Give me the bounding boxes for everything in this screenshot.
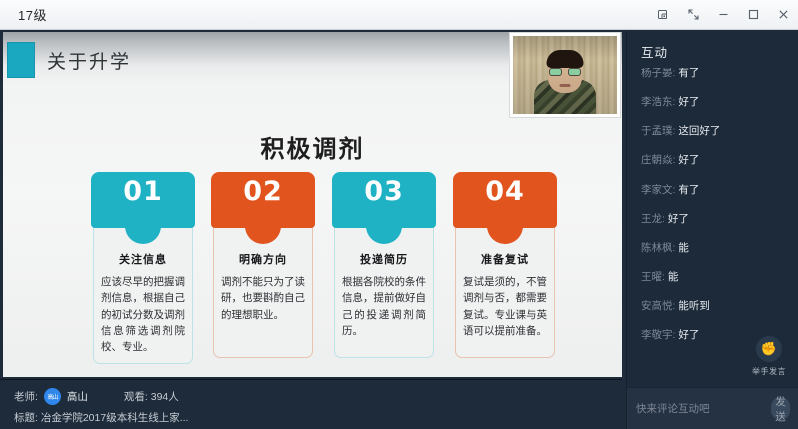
chat-user: 李浩东:	[641, 96, 675, 108]
chat-text: 这回好了	[678, 125, 720, 137]
window-content: 关于升学 积极调剂 01 关注信息 应该尽早的把握调剂信息，根据自己的初试分数及…	[0, 30, 798, 429]
window-titlebar: 17级	[0, 0, 798, 30]
raise-hand-button[interactable]: ✊ 举手发言	[752, 336, 786, 377]
restore-size-icon[interactable]	[678, 0, 708, 29]
teacher-row: 老师: 高山 高山 观看: 394人	[14, 387, 622, 406]
slide-cards: 01 关注信息 应该尽早的把握调剂信息，根据自己的初试分数及调剂信息筛选调剂院校…	[91, 172, 539, 362]
interaction-panel: 互动 杨子晏: 有了 李浩东: 好了 于孟璞: 这回好了 庄朝焱: 好了	[626, 30, 798, 429]
card-number: 03	[364, 178, 404, 205]
chat-user: 王龙:	[641, 213, 665, 225]
chat-input[interactable]	[636, 403, 771, 415]
card-heading: 关注信息	[101, 251, 185, 267]
chat-text: 好了	[678, 154, 699, 166]
chat-text: 能听到	[678, 300, 710, 312]
card-number: 01	[123, 178, 163, 205]
slide-title: 积极调剂	[3, 129, 622, 164]
card-text: 应该尽早的把握调剂信息，根据自己的初试分数及调剂信息筛选调剂院校、专业。	[101, 274, 185, 355]
chat-message: 王曜: 能	[641, 272, 787, 284]
chat-panel-header: 互动	[627, 30, 798, 61]
chat-message: 杨子晏: 有了	[641, 68, 787, 80]
teacher-camera-feed[interactable]	[510, 33, 620, 117]
card-text: 调剂不能只为了读研，也要斟酌自己的理想职业。	[221, 274, 305, 323]
card-text: 根据各院校的条件信息，提前做好自己的投递调剂简历。	[342, 274, 426, 339]
screenshot-icon[interactable]	[648, 0, 678, 29]
card-heading: 准备复试	[463, 251, 547, 267]
teacher-name: 高山	[67, 389, 88, 404]
chat-input-bar: 发送	[627, 387, 798, 429]
card-number: 02	[243, 178, 283, 205]
chat-message: 陈林枫: 能	[641, 243, 787, 255]
send-button[interactable]: 发送	[771, 397, 790, 420]
chat-user: 李家文:	[641, 184, 675, 196]
close-icon[interactable]	[768, 0, 798, 29]
chat-message: 李浩东: 好了	[641, 97, 787, 109]
card-badge: 01	[91, 172, 195, 228]
chat-user: 安高悦:	[641, 300, 675, 312]
card-badge: 03	[332, 172, 436, 228]
camera-video	[513, 36, 617, 114]
chat-user: 庄朝焱:	[641, 154, 675, 166]
stream-info-bar: 老师: 高山 高山 观看: 394人 标题: 冶金学院2017级本科生线上家..…	[0, 379, 622, 429]
card-heading: 明确方向	[221, 251, 305, 267]
slide-kicker-group: 关于升学	[3, 42, 131, 78]
chat-message: 李家文: 有了	[641, 185, 787, 197]
chat-message: 于孟璞: 这回好了	[641, 126, 787, 138]
card-heading: 投递简历	[342, 251, 426, 267]
chat-user: 陈林枫:	[641, 242, 675, 254]
slide-accent-square	[7, 42, 35, 78]
chat-user: 杨子晏:	[641, 68, 675, 79]
card-badge: 02	[211, 172, 315, 228]
chat-user: 李敬宇:	[641, 329, 675, 341]
chat-text: 好了	[668, 213, 689, 225]
chat-message: 安高悦: 能听到	[641, 301, 787, 313]
chat-text: 能	[668, 271, 679, 283]
chat-user: 王曜:	[641, 271, 665, 283]
chat-text: 好了	[678, 329, 699, 341]
chat-message: 庄朝焱: 好了	[641, 155, 787, 167]
window-controls	[648, 0, 798, 29]
stream-title: 标题: 冶金学院2017级本科生线上家...	[14, 410, 622, 425]
raise-hand-label: 举手发言	[752, 366, 786, 377]
teacher-label: 老师:	[14, 389, 38, 404]
card-badge: 04	[453, 172, 557, 228]
chat-text: 好了	[678, 96, 699, 108]
minimize-icon[interactable]	[708, 0, 738, 29]
window-title: 17级	[18, 5, 47, 24]
chat-user: 于孟璞:	[641, 125, 675, 137]
card-text: 复试是须的，不管调剂与否，都需要复试。专业课与英语可以提前准备。	[463, 274, 547, 339]
maximize-icon[interactable]	[738, 0, 768, 29]
avatar: 高山	[44, 388, 61, 405]
chat-text: 有了	[678, 184, 699, 196]
chat-message: 王龙: 好了	[641, 214, 787, 226]
chat-text: 有了	[678, 68, 699, 79]
slide-kicker-text: 关于升学	[47, 47, 131, 74]
card-number: 04	[485, 178, 525, 205]
live-class-window: 17级 关于升学	[0, 0, 798, 429]
chat-text: 能	[678, 242, 689, 254]
raise-hand-icon: ✊	[756, 336, 782, 362]
viewer-count: 观看: 394人	[124, 389, 179, 404]
chat-message-list[interactable]: 杨子晏: 有了 李浩东: 好了 于孟璞: 这回好了 庄朝焱: 好了 李家文:	[627, 68, 798, 348]
camera-vignette	[513, 36, 617, 114]
